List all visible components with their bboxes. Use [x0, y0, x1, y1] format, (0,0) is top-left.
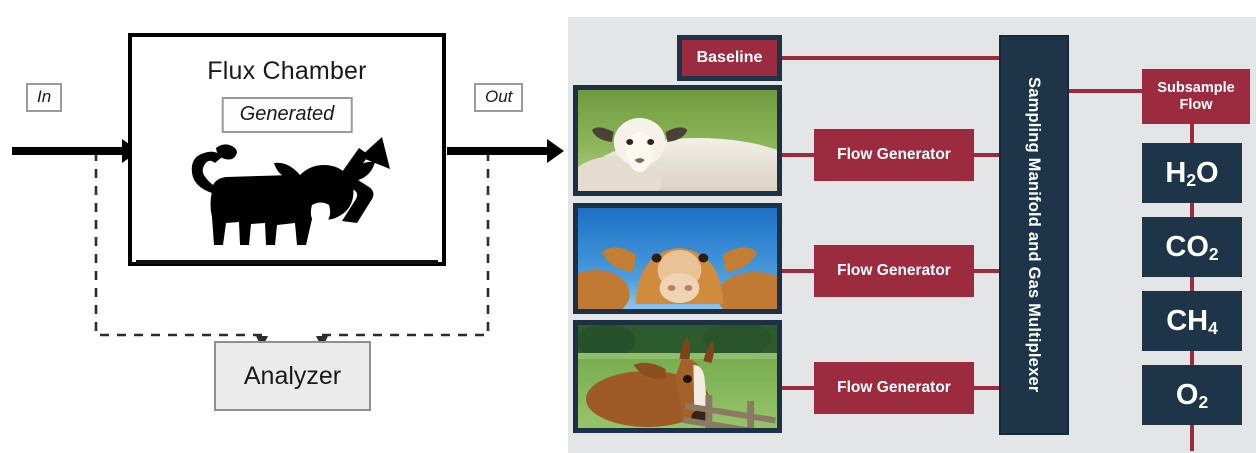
inlet-label: In — [26, 83, 62, 112]
inlet-flow-arrow — [12, 147, 122, 155]
gas-box-oxygen: O2 — [1142, 365, 1242, 425]
connector-cow-to-flowgen — [778, 269, 816, 273]
outlet-flow-arrow — [447, 147, 547, 155]
flow-generator-1: Flow Generator — [814, 129, 974, 181]
gas-formula-co2-main: CO — [1165, 231, 1209, 263]
gas-formula-co2-sub: 2 — [1209, 244, 1219, 264]
gas-formula-o2-main: O — [1176, 379, 1199, 411]
flux-chamber-box: Flux Chamber Generated — [128, 33, 446, 266]
chamber-artwork — [154, 135, 426, 255]
gas-box-water-vapor: H2O — [1142, 143, 1242, 203]
chamber-floor-line — [136, 260, 438, 264]
connector-flowgen3-to-manifold — [972, 386, 1002, 390]
sampling-manifold-label: Sampling Manifold and Gas Multiplexer — [1025, 77, 1043, 392]
connector-flowgen2-to-manifold — [972, 269, 1002, 273]
gas-formula-ch4-sub: 4 — [1208, 318, 1218, 338]
connector-flowgen1-to-manifold — [972, 153, 1002, 157]
gas-box-methane: CH4 — [1142, 291, 1242, 351]
outlet-label: Out — [474, 83, 523, 112]
emission-arrow-icon — [340, 137, 390, 223]
gas-formula-h2o-tail: O — [1196, 157, 1219, 189]
connector-manifold-to-subsample — [1066, 89, 1144, 93]
subsample-flow-line2: Flow — [1179, 97, 1212, 113]
sampling-manifold-box: Sampling Manifold and Gas Multiplexer — [999, 35, 1069, 435]
gas-formula-o2-sub: 2 — [1198, 392, 1208, 412]
gas-formula-h2o-sub: 2 — [1186, 170, 1196, 190]
right-system-diagram: Baseline — [568, 17, 1256, 453]
sheep-photo — [573, 85, 782, 196]
subsample-flow-line1: Subsample — [1157, 80, 1234, 96]
generated-label: Generated — [222, 97, 353, 133]
analyzer-box: Analyzer — [214, 341, 371, 411]
baseline-box: Baseline — [677, 35, 782, 81]
gas-box-carbon-dioxide: CO2 — [1142, 217, 1242, 277]
connector-sheep-to-flowgen — [778, 153, 816, 157]
gas-formula-ch4-main: CH — [1166, 305, 1208, 337]
cow-photo — [573, 203, 782, 314]
arrowhead-out-icon — [547, 139, 564, 163]
connector-horse-to-flowgen — [778, 386, 816, 390]
flow-generator-2: Flow Generator — [814, 245, 974, 297]
flow-generator-3: Flow Generator — [814, 362, 974, 414]
flux-chamber-title: Flux Chamber — [132, 57, 442, 86]
left-flux-chamber-diagram: In Out Flux Chamber Generated — [0, 0, 568, 453]
connector-baseline-to-manifold — [780, 56, 1002, 60]
subsample-flow-box: Subsample Flow — [1142, 69, 1250, 124]
gas-formula-h2o-main: H — [1165, 157, 1186, 189]
cow-silhouette-icon — [154, 135, 426, 255]
horse-photo — [573, 320, 782, 433]
